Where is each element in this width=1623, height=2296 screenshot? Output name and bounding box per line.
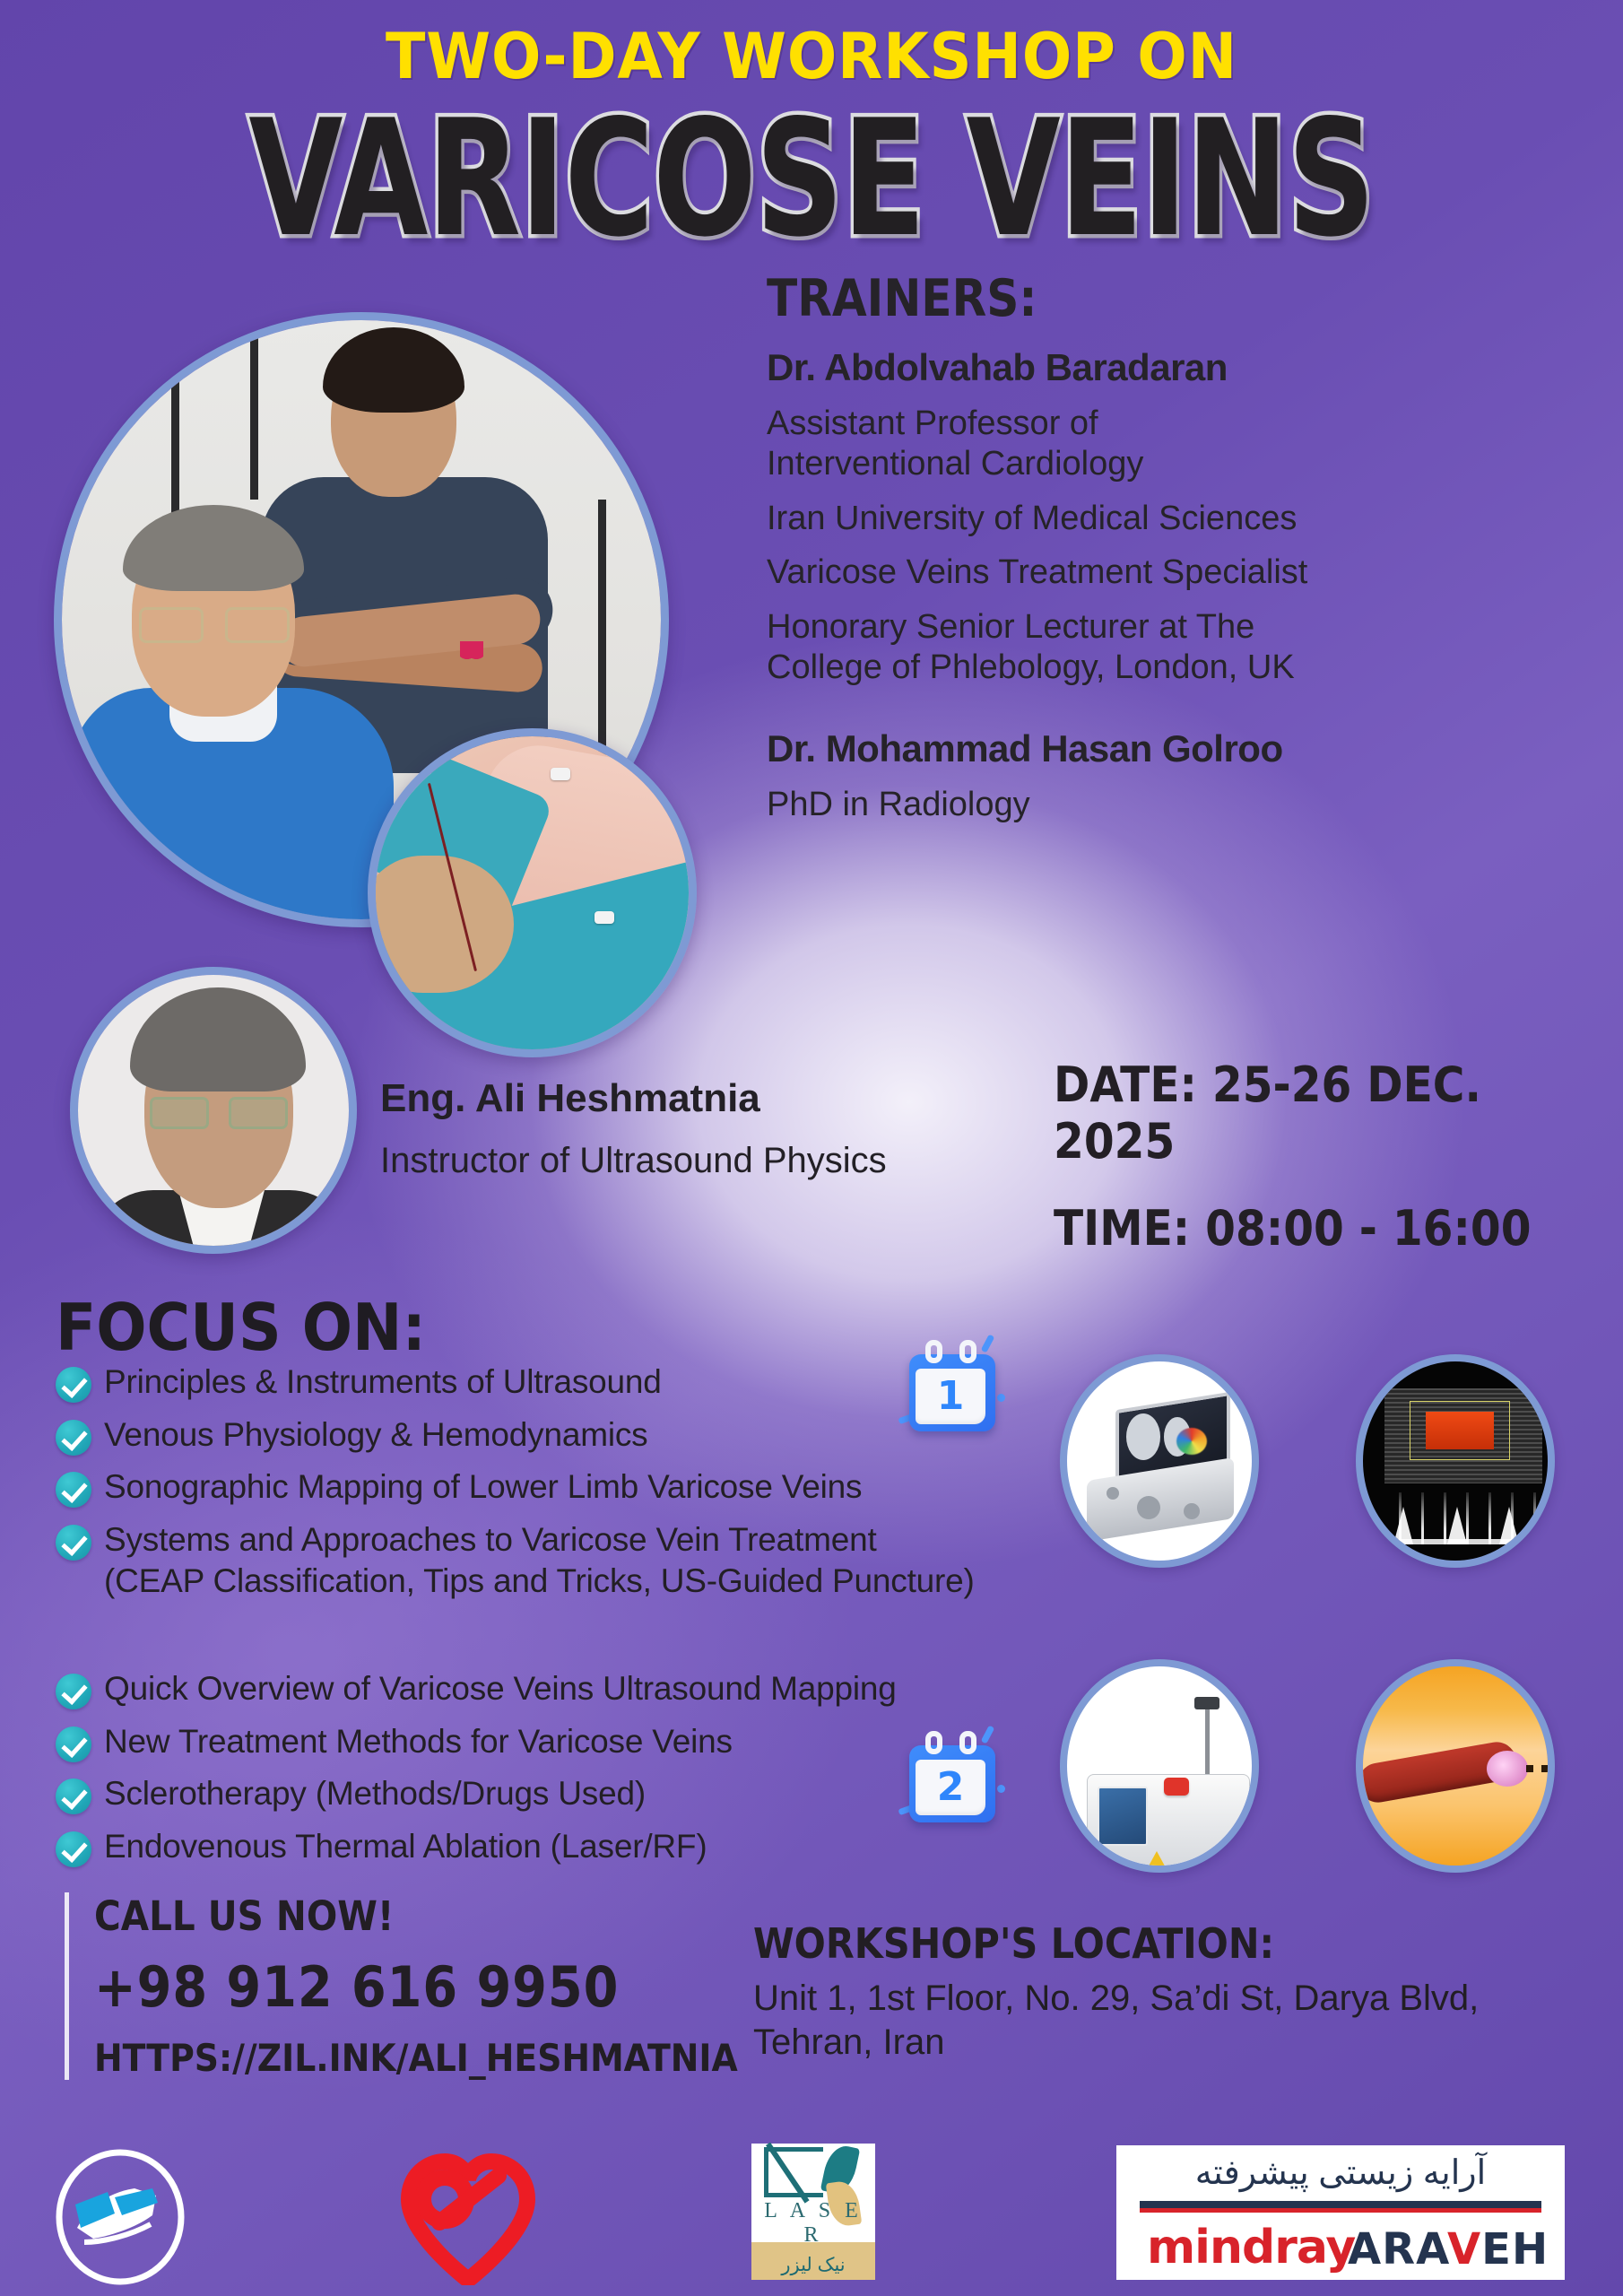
gloved-hand [368,856,514,994]
list-item: Systems and Approaches to Varicose Vein … [56,1519,979,1603]
laser-fiber-tip [1487,1751,1528,1787]
calendar-day1-icon: 1 [904,1338,1001,1435]
trainer-1-name: Dr. Abdolvahab Baradaran [767,346,1610,389]
location-heading: WORKSHOP'S LOCATION: [753,1919,1512,1968]
doppler-peak [1499,1507,1519,1544]
calendar-ring [959,1731,976,1754]
list-item: New Treatment Methods for Varicose Veins [56,1721,979,1763]
focus-list-day2: Quick Overview of Varicose Veins Ultraso… [56,1668,979,1878]
calendar-day-number: 2 [916,1758,985,1815]
image-laser-device [1060,1659,1259,1873]
catheter-cap [551,768,570,780]
poster-canvas: TWO-DAY WORKSHOP ON VARICOSE VEINS [0,0,1623,2296]
focus-item-text: Endovenous Thermal Ablation (Laser/RF) [104,1826,707,1868]
araveh-persian-name: آرایه زیستی پیشرفته [1116,2152,1565,2193]
mindray-araveh-logo: آرایه زیستی پیشرفته mindray ARAVEH [1116,2145,1565,2280]
araveh-part-b: EH [1481,2224,1549,2274]
sparkle [981,1335,995,1353]
calendar-ring [959,1340,976,1363]
araveh-part-a: ARA [1348,2224,1447,2274]
ultrasound-image-lobe [1126,1413,1160,1460]
check-icon [56,1674,91,1709]
trainer-1-text: Assistant Professor of [767,404,1098,442]
trainer-2-line-1: PhD in Radiology [767,785,1610,825]
araveh-wordmark: ARAVEH [1348,2224,1549,2274]
sparkle [997,1785,1005,1793]
focus-heading: FOCUS ON: [56,1290,426,1365]
engineer-section: Eng. Ali Heshmatnia Instructor of Ultras… [380,1076,1115,1181]
nik-laser-logo: L A S E R نیک لیزر [751,2144,875,2280]
trainer-1-line-3: Varicose Veins Treatment Specialist [767,552,1610,593]
focus-item-text: New Treatment Methods for Varicose Veins [104,1721,733,1763]
divider [1140,2201,1541,2208]
image-ultrasound-machine [1060,1354,1259,1568]
color-flow-region [1426,1412,1494,1449]
location-address-line1: Unit 1, 1st Floor, No. 29, Sa’di St, Dar… [753,1979,1479,2018]
control-knob [1107,1487,1119,1500]
mindray-wordmark: mindray [1147,2221,1355,2274]
focus-item-text: Venous Physiology & Hemodynamics [104,1414,647,1457]
check-icon [56,1779,91,1814]
schedule-block: DATE: 25-26 DEC. 2025 TIME: 08:00 - 16:0… [1054,1057,1623,1257]
page-title: VARICOSE VEINS [24,99,1599,263]
calendar-day2-icon: 2 [904,1729,1001,1826]
eyeglasses-icon [150,1097,288,1124]
list-item: Venous Physiology & Hemodynamics [56,1414,979,1457]
trainers-section: TRAINERS: Dr. Abdolvahab Baradaran Assis… [767,269,1610,825]
engineer-name: Eng. Ali Heshmatnia [380,1076,1115,1121]
header-kicker: TWO-DAY WORKSHOP ON [56,20,1566,93]
focus-item-text: Principles & Instruments of Ultrasound [104,1361,662,1404]
location-address: Unit 1, 1st Floor, No. 29, Sa’di St, Dar… [753,1977,1596,2065]
contact-heading: CALL US NOW! [94,1892,738,1940]
divider [1140,2208,1541,2213]
trainer-1-text: Interventional Cardiology [767,445,1143,483]
focus-item-text: Systems and Approaches to Varicose Vein … [104,1519,979,1603]
photo-procedure [368,728,697,1057]
schedule-date: DATE: 25-26 DEC. 2025 [1054,1057,1567,1170]
list-item: Sonographic Mapping of Lower Limb Varico… [56,1466,979,1509]
trainer-1-line-2: Iran University of Medical Sciences [767,499,1610,539]
heart-pocket-icon [460,641,483,663]
catheter-cap [595,911,614,924]
contact-block: CALL US NOW! +98 912 616 9950 HTTPS://ZI… [65,1892,810,2080]
check-icon [56,1367,91,1403]
trainer-1-text: Honorary Senior Lecturer at The [767,608,1254,646]
focus-item-text: Sonographic Mapping of Lower Limb Varico… [104,1466,862,1509]
check-icon [56,1726,91,1762]
check-icon [56,1472,91,1508]
araveh-part-v: V [1447,2224,1481,2274]
sparkle [981,1726,995,1744]
trainer-2-name: Dr. Mohammad Hasan Golroo [767,727,1610,770]
ultrasound-control-panel [1087,1457,1234,1542]
color-doppler-overlay [1176,1428,1207,1455]
wall-line [250,320,258,500]
photo-engineer [70,967,357,1254]
calendar-day-number: 1 [916,1367,985,1424]
contact-url[interactable]: HTTPS://ZIL.INK/ALI_HESHMATNIA [94,2036,738,2080]
list-item: Principles & Instruments of Ultrasound [56,1361,979,1404]
poster-header: TWO-DAY WORKSHOP ON VARICOSE VEINS [0,20,1623,227]
trainer-1-line-4: Honorary Senior Lecturer at The College … [767,607,1610,688]
calendar-ring [925,1731,942,1754]
laser-touchscreen [1098,1787,1148,1846]
heart-logo [393,2149,543,2285]
check-icon [56,1831,91,1867]
list-item: Sclerotherapy (Methods/Drugs Used) [56,1773,979,1815]
control-knob [1184,1503,1200,1519]
engineer-role: Instructor of Ultrasound Physics [380,1141,1115,1181]
laser-pole [1205,1702,1210,1785]
focus-item-text: Sclerotherapy (Methods/Drugs Used) [104,1773,646,1815]
list-item: Quick Overview of Varicose Veins Ultraso… [56,1668,979,1710]
nik-laser-persian: نیک لیزر [751,2254,875,2276]
location-block: WORKSHOP'S LOCATION: Unit 1, 1st Floor, … [753,1919,1596,2065]
eyeglasses-icon [139,607,290,638]
emergency-stop-button [1164,1778,1189,1796]
contact-phone[interactable]: +98 912 616 9950 [94,1954,738,2020]
image-endovenous-ablation [1356,1659,1555,1873]
laser-beam-dots [1526,1765,1555,1772]
sparkle [997,1394,1005,1402]
control-knob [1137,1496,1160,1519]
list-item: Endovenous Thermal Ablation (Laser/RF) [56,1826,979,1868]
calendar-ring [925,1340,942,1363]
trainers-heading: TRAINERS: [767,269,1508,328]
check-icon [56,1420,91,1456]
image-doppler-scan [1356,1354,1555,1568]
doppler-peak [1447,1507,1467,1544]
trainer-1-line-1: Assistant Professor of Interventional Ca… [767,404,1610,484]
footer-logos: L A S E R نیک لیزر آرایه زیستی پیشرفته m… [0,2144,1623,2296]
nik-laser-latin: L A S E R [751,2199,875,2248]
laser-pole-clamp [1194,1697,1219,1709]
focus-list-day1: Principles & Instruments of Ultrasound V… [56,1361,979,1613]
location-address-line2: Tehran, Iran [753,2022,944,2062]
check-icon [56,1525,91,1561]
doppler-peak [1393,1507,1413,1544]
schedule-time: TIME: 08:00 - 16:00 [1054,1200,1567,1257]
trainer-1-text: College of Phlebology, London, UK [767,648,1295,686]
hand-care-logo [52,2149,188,2285]
focus-item-text: Quick Overview of Varicose Veins Ultraso… [104,1668,897,1710]
